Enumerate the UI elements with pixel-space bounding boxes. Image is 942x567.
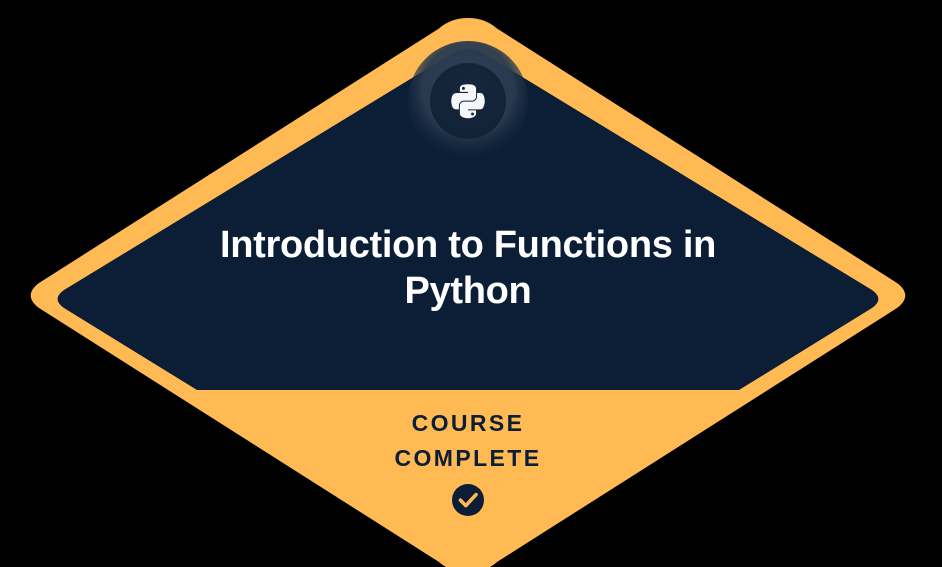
- badge-graphic: [0, 0, 942, 567]
- badge-stage: Introduction to Functions in Python COUR…: [0, 0, 942, 567]
- completion-check-badge: [452, 484, 484, 516]
- logo-glow-inner: [430, 63, 506, 139]
- check-circle-icon: [452, 484, 484, 516]
- technology-logo-group: [408, 41, 528, 161]
